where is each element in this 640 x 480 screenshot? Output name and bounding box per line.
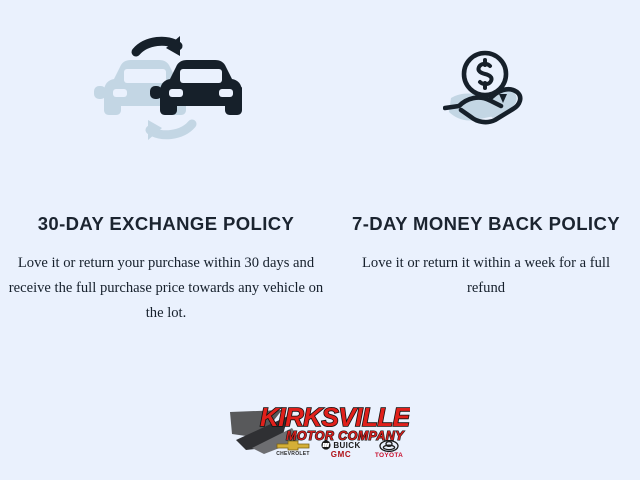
policy-title: 30-DAY EXCHANGE POLICY: [28, 212, 305, 235]
policy-card-money-back: 7-DAY MONEY BACK POLICY Love it or retur…: [332, 0, 640, 380]
chevrolet-bowtie-icon: [276, 440, 310, 451]
buick-tri-shield-icon: [321, 440, 331, 450]
brand-badge-toyota: TOYOTA: [368, 440, 410, 460]
dealer-logo: KIRKSVILLE MOTOR COMPANY CHEVROLET: [0, 396, 640, 468]
policy-title: 7-DAY MONEY BACK POLICY: [342, 212, 630, 235]
brand-label: TOYOTA: [375, 453, 403, 460]
brand-badge-chevrolet: CHEVROLET: [272, 440, 314, 457]
toyota-ellipses-icon: [379, 440, 399, 452]
policy-card-exchange: 30-DAY EXCHANGE POLICY Love it or return…: [0, 0, 332, 380]
brand-badge-buick: BUICK GMC: [320, 440, 362, 459]
policy-description: Love it or return your purchase within 3…: [0, 251, 332, 326]
promo-banner: 30-DAY EXCHANGE POLICY Love it or return…: [0, 0, 640, 480]
car-exchange-icon: [0, 0, 332, 175]
brand-label: CHEVROLET: [276, 452, 310, 457]
logo-name-primary: KIRKSVILLE: [260, 402, 410, 432]
policy-columns: 30-DAY EXCHANGE POLICY Love it or return…: [0, 0, 640, 380]
brand-badge-row: CHEVROLET BUICK GMC: [272, 440, 410, 460]
policy-description: Love it or return it within a week for a…: [355, 251, 617, 301]
money-back-hand-icon: [332, 0, 640, 175]
brand-label: BUICK: [333, 441, 360, 450]
brand-label: GMC: [331, 451, 351, 459]
